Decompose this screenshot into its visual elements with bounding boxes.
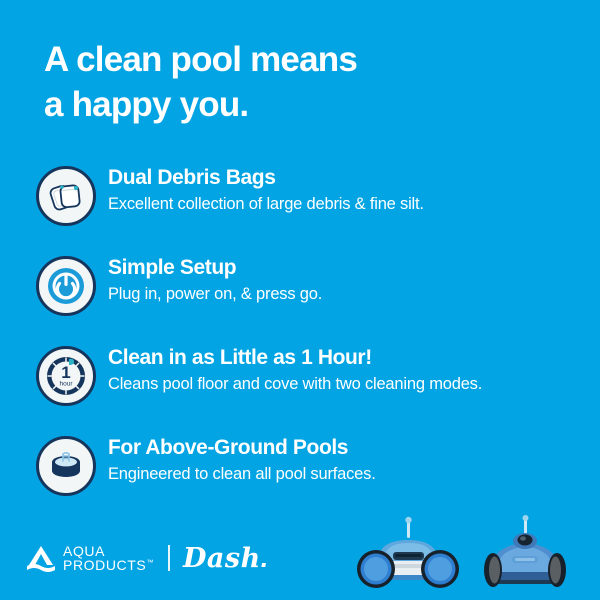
feature-list: Dual Debris Bags Excellent collection of…	[36, 166, 584, 526]
power-button-icon	[36, 256, 96, 316]
above-ground-pool-icon	[36, 436, 96, 496]
dash-label: Dash	[183, 543, 261, 574]
clock-unit: hour	[59, 381, 73, 388]
feature-title: Dual Debris Bags	[108, 166, 584, 190]
feature-item-above-ground-pools: For Above-Ground Pools Engineered to cle…	[36, 436, 584, 526]
pool-cleaner-robot-front-view	[357, 517, 459, 588]
promo-poster: A clean pool means a happy you.	[0, 0, 600, 600]
feature-description: Engineered to clean all pool surfaces.	[108, 465, 584, 485]
feature-text-block: Clean in as Little as 1 Hour! Cleans poo…	[108, 346, 584, 395]
feature-text-block: For Above-Ground Pools Engineered to cle…	[108, 436, 584, 485]
feature-item-one-hour-clean: 1 hour Clean in as Little as 1 Hour! Cle…	[36, 346, 584, 436]
feature-title: For Above-Ground Pools	[108, 436, 584, 460]
dash-product-wordmark: Dash.	[183, 543, 269, 574]
trademark-symbol: ™	[146, 559, 154, 566]
dash-dot: .	[261, 543, 269, 573]
brand-line-2: PRODUCTS™	[63, 558, 154, 572]
headline-line-2: a happy you.	[44, 83, 514, 128]
product-images	[352, 514, 592, 600]
feature-text-block: Dual Debris Bags Excellent collection of…	[108, 166, 584, 215]
headline-line-1: A clean pool means	[44, 40, 357, 79]
feature-description: Excellent collection of large debris & f…	[108, 195, 584, 215]
feature-title: Simple Setup	[108, 256, 584, 280]
brand-lockup: AQUA PRODUCTS™ Dash.	[26, 538, 269, 578]
clock-number: 1	[61, 363, 70, 382]
logo-divider	[168, 545, 170, 571]
one-hour-clock-icon: 1 hour	[36, 346, 96, 406]
aqua-products-logo-icon	[26, 544, 56, 572]
debris-bags-icon	[36, 166, 96, 226]
feature-item-dual-debris-bags: Dual Debris Bags Excellent collection of…	[36, 166, 584, 256]
feature-title: Clean in as Little as 1 Hour!	[108, 346, 584, 370]
brand-line-1: AQUA	[63, 544, 154, 558]
page-title: A clean pool means a happy you.	[44, 38, 514, 128]
feature-description: Plug in, power on, & press go.	[108, 285, 584, 305]
feature-description: Cleans pool floor and cove with two clea…	[108, 375, 584, 395]
feature-text-block: Simple Setup Plug in, power on, & press …	[108, 256, 584, 305]
feature-item-simple-setup: Simple Setup Plug in, power on, & press …	[36, 256, 584, 346]
aqua-products-wordmark: AQUA PRODUCTS™	[63, 544, 154, 572]
pool-cleaner-robot-rear-view	[484, 515, 566, 587]
